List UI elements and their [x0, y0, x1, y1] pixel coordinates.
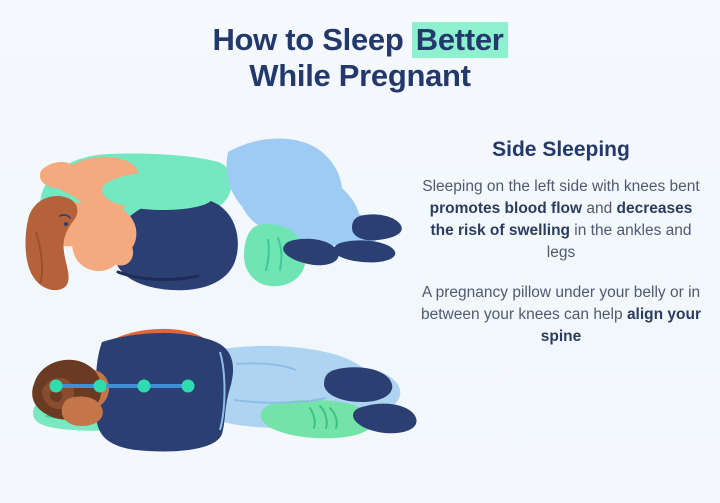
- spine-alignment-illustration: [20, 312, 420, 477]
- section-heading: Side Sleeping: [418, 138, 704, 162]
- title-line-2: While Pregnant: [0, 58, 720, 94]
- paragraph-pregnancy-pillow: A pregnancy pillow under your belly or i…: [418, 282, 704, 348]
- paragraph-side-sleeping: Sleeping on the left side with knees ben…: [418, 176, 704, 264]
- title-line-1: How to Sleep Better: [0, 22, 720, 58]
- title-highlight-word: Better: [412, 22, 508, 58]
- page-title: How to Sleep Better While Pregnant: [0, 22, 720, 93]
- side-sleeping-illustration: [22, 112, 412, 302]
- alignment-dot: [94, 380, 107, 393]
- infographic-root: How to Sleep Better While Pregnant: [0, 0, 720, 503]
- alignment-dot: [182, 380, 195, 393]
- alignment-dot: [50, 380, 63, 393]
- title-prefix: How to Sleep: [212, 22, 411, 57]
- alignment-dot: [138, 380, 151, 393]
- content-column: Side Sleeping Sleeping on the left side …: [418, 138, 704, 366]
